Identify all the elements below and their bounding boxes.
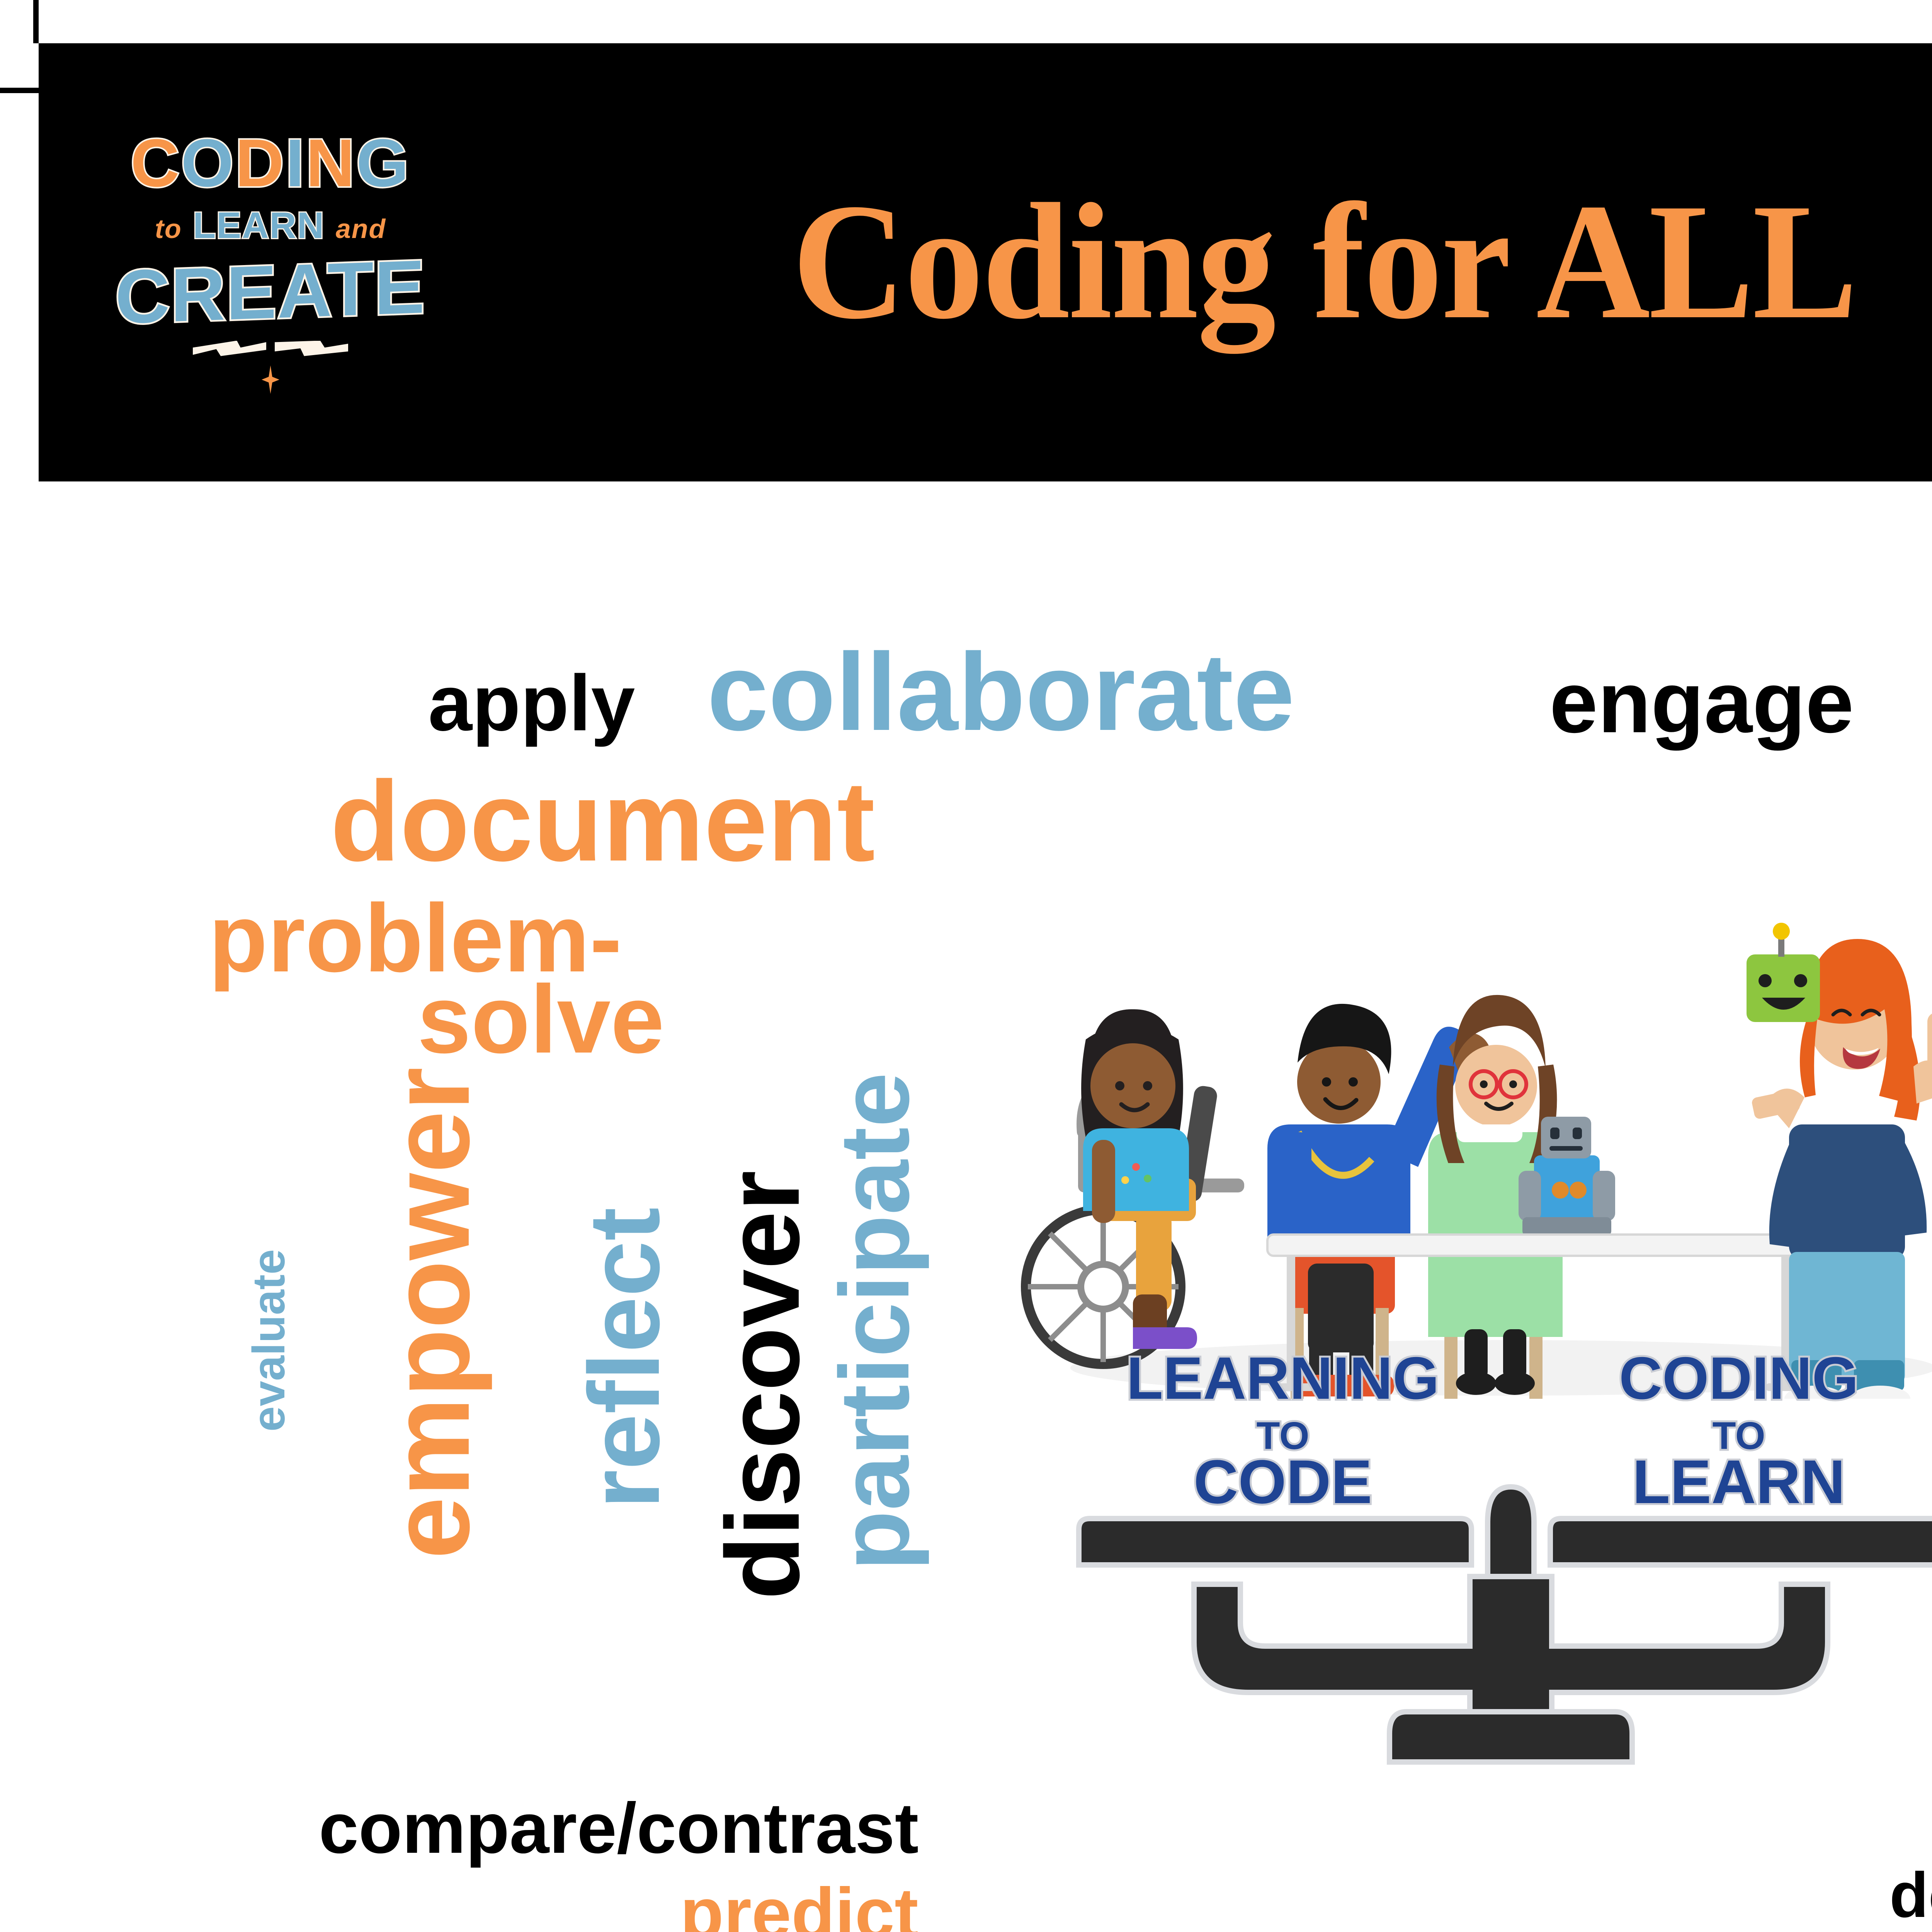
- word-evaluate: evaluate: [251, 1249, 287, 1432]
- brand-logo: CODING to LEARN and CREATE: [128, 66, 413, 457]
- word-apply: apply: [428, 672, 635, 734]
- student-with-robot: [1428, 995, 1615, 1399]
- teacher-figure: [1747, 923, 1932, 1399]
- crop-mark-top-left-vertical: [33, 0, 39, 43]
- balance-scale-diagram: LEARNING TO CODE CODING TO LEARN: [1066, 1352, 1932, 1777]
- word-communicate: communicate: [1839, 1930, 1932, 1932]
- word-predict: predict: [680, 1886, 918, 1932]
- brand-logo-line-to-learn-and: to LEARN and: [155, 207, 386, 244]
- word-empower: empower: [386, 1067, 474, 1559]
- student-wheelchair-user: [1026, 1009, 1244, 1364]
- brand-logo-word-to: to: [155, 214, 182, 244]
- word-discover: discover: [723, 1170, 804, 1600]
- green-robot-cube: [1747, 923, 1820, 1022]
- classroom-scene-illustration: [1020, 885, 1932, 1399]
- crop-mark-top-left-horizontal: [0, 88, 43, 93]
- scale-right-line1: CODING: [1619, 1352, 1859, 1412]
- page-title: Coding for ALL: [792, 63, 1932, 461]
- word-participate: participate: [837, 1072, 913, 1571]
- word-problem: problem-: [209, 900, 622, 976]
- word-engage: engage: [1549, 668, 1854, 736]
- word-compare-contrast: compare/contrast: [319, 1801, 918, 1856]
- header-bar: CODING to LEARN and CREATE Coding for AL…: [39, 43, 1932, 481]
- scale-right-line3: LEARN: [1632, 1447, 1845, 1516]
- centre-illustration: LEARNING TO CODE CODING TO LEARN: [1020, 885, 1932, 1797]
- scale-left-line3: CODE: [1194, 1447, 1372, 1516]
- word-collaborate: collaborate: [707, 649, 1294, 735]
- brand-logo-word-and: and: [336, 214, 386, 244]
- scale-left-line1: LEARNING: [1126, 1352, 1439, 1412]
- word-solve: solve: [417, 981, 664, 1057]
- brand-logo-line-coding: CODING: [131, 129, 410, 197]
- brand-logo-word-learn: LEARN: [193, 205, 325, 246]
- brand-logo-line-create: CREATE: [115, 248, 425, 335]
- word-document: document: [330, 777, 875, 866]
- sparkle-icon: [262, 366, 279, 394]
- lightning-bolt-icon: [193, 341, 348, 356]
- word-reflect: reflect: [585, 1207, 664, 1509]
